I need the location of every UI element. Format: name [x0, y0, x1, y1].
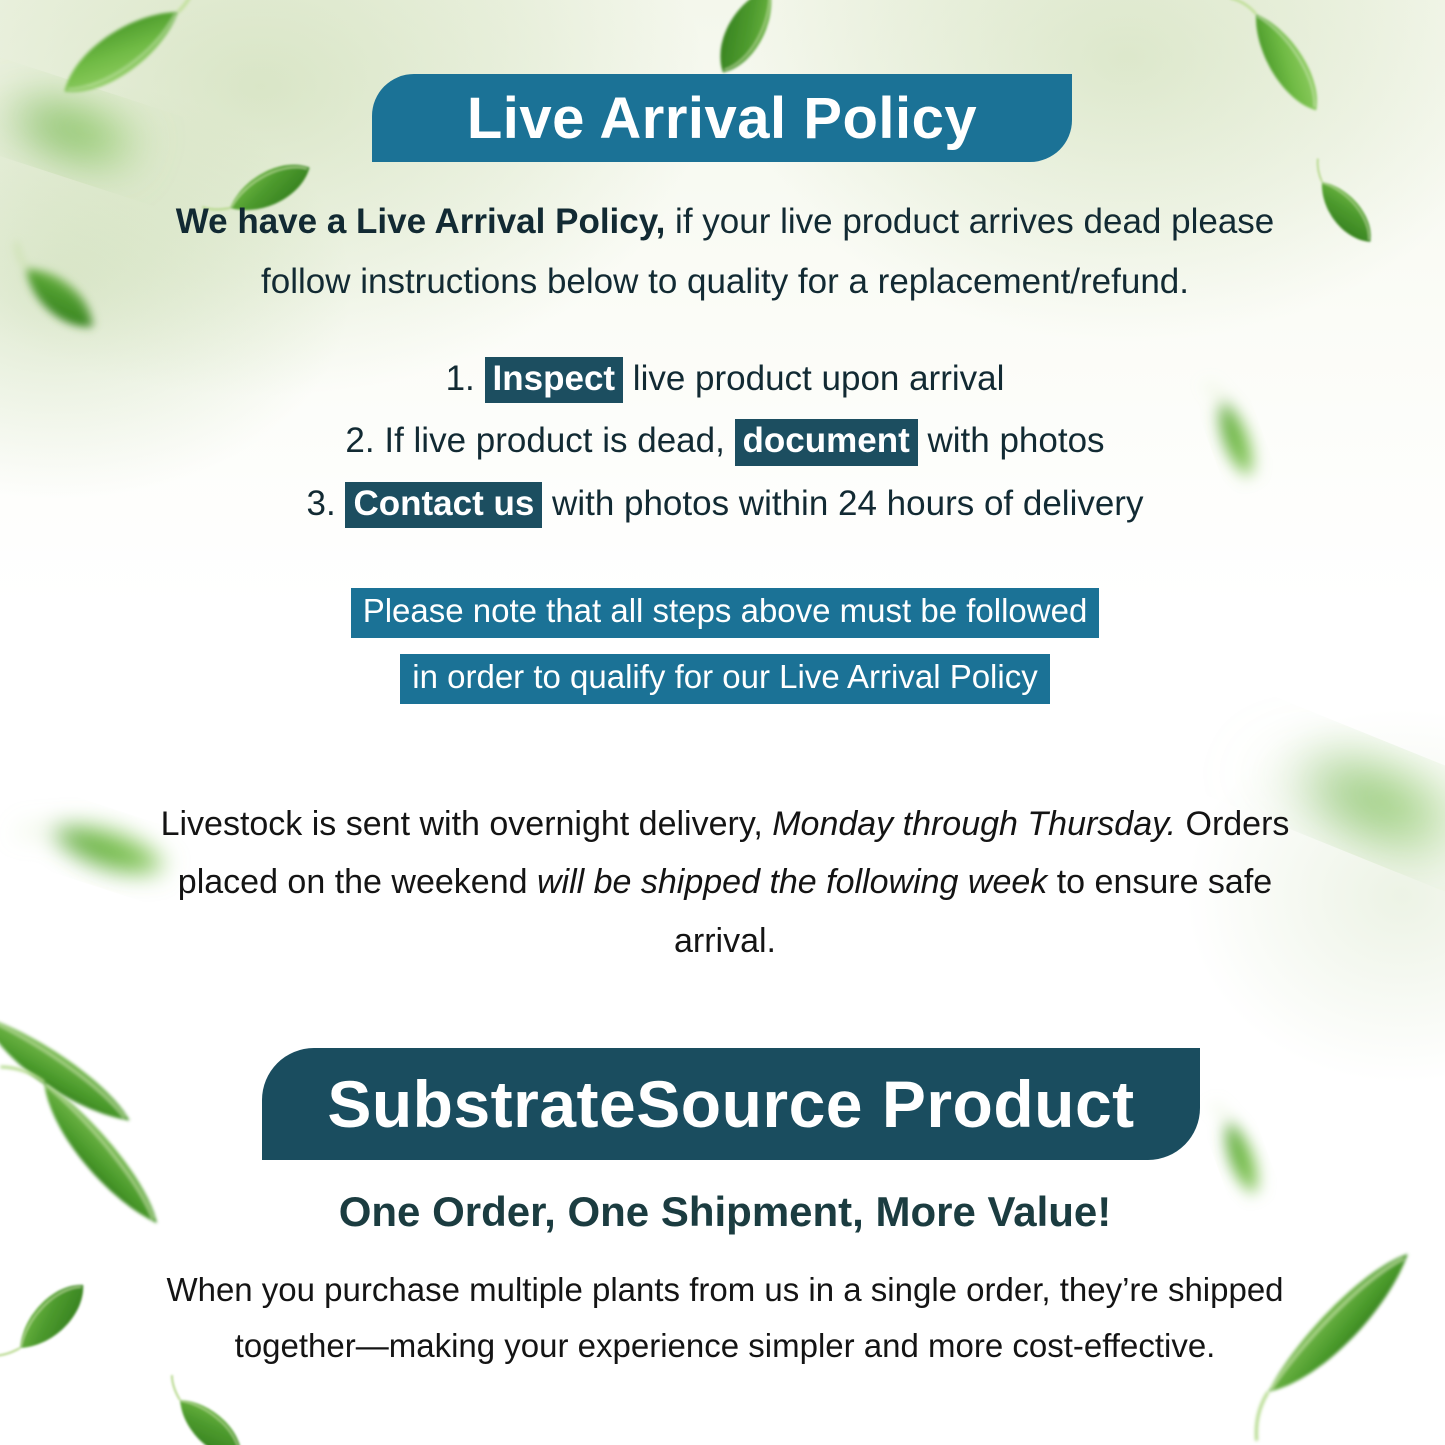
shipping-part-1: Livestock is sent with overnight deliver… — [161, 805, 773, 843]
live-arrival-policy-banner: Live Arrival Policy — [372, 74, 1072, 162]
intro-paragraph: We have a Live Arrival Policy, if your l… — [150, 192, 1300, 312]
list-item: 3. Contact us with photos within 24 hour… — [150, 473, 1300, 535]
live-arrival-policy-infographic: Live Arrival Policy We have a Live Arriv… — [0, 0, 1445, 1445]
policy-note-block: Please note that all steps above must be… — [150, 578, 1300, 710]
substratesource-banner-title: SubstrateSource Product — [327, 1066, 1134, 1142]
step-after-text: live product upon arrival — [623, 359, 1004, 398]
intro-bold-lead: We have a Live Arrival Policy, — [176, 202, 666, 241]
step-after-text: with photos within 24 hours of delivery — [542, 484, 1143, 523]
shipping-italic-2: will be shipped the following week — [537, 863, 1047, 901]
step-before-text — [336, 484, 346, 523]
product-body-paragraph: When you purchase multiple plants from u… — [130, 1262, 1320, 1374]
shipping-schedule-paragraph: Livestock is sent with overnight deliver… — [150, 795, 1300, 970]
substratesource-product-banner: SubstrateSource Product — [262, 1048, 1200, 1160]
step-number: 2. — [345, 421, 374, 460]
step-highlight-contact-us: Contact us — [345, 482, 542, 528]
step-highlight-document: document — [735, 419, 918, 465]
list-item: 2. If live product is dead, document wit… — [150, 410, 1300, 472]
note-line-2: in order to qualify for our Live Arrival… — [400, 654, 1049, 704]
list-item: 1. Inspect live product upon arrival — [150, 348, 1300, 410]
step-number: 3. — [307, 484, 336, 523]
step-highlight-inspect: Inspect — [485, 357, 624, 403]
product-subheading: One Order, One Shipment, More Value! — [150, 1188, 1300, 1236]
page-title: Live Arrival Policy — [467, 85, 977, 152]
steps-list: 1. Inspect live product upon arrival 2. … — [150, 348, 1300, 535]
step-before-text: If live product is dead, — [375, 421, 735, 460]
note-line-1: Please note that all steps above must be… — [351, 588, 1100, 638]
step-after-text: with photos — [918, 421, 1105, 460]
step-number: 1. — [446, 359, 475, 398]
shipping-italic-1: Monday through Thursday. — [772, 805, 1176, 843]
